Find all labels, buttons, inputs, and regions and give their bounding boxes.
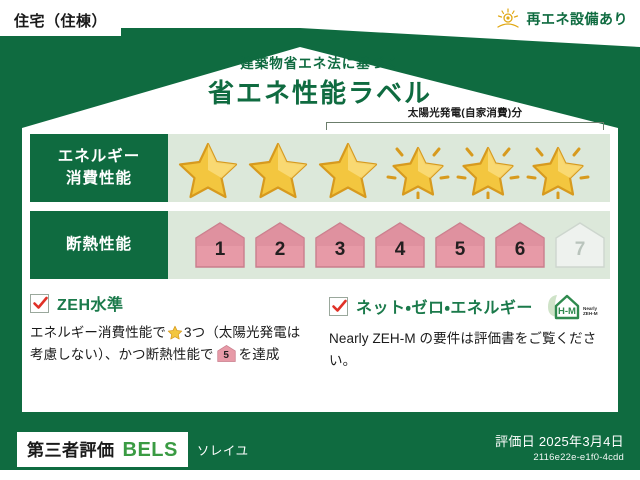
energy-performance-label: 住宅（住棟） 再エネ設備あり 建築物省エネ法に基づく 省エネ性能ラベル (0, 0, 640, 480)
insulation-performance-rating: 1 2 3 4 (168, 211, 610, 279)
check-icon (331, 298, 348, 315)
net-zero-energy-description: Nearly ZEH-M の要件は評価書をご覧ください。 (329, 328, 610, 372)
label-subtitle: 建築物省エネ法に基づく (0, 56, 640, 72)
evaluation-id: 2116e22e-e1f0-4cdd (495, 452, 624, 464)
svg-text:H-M: H-M (558, 306, 576, 317)
insulation-grade-value-3: 3 (335, 240, 346, 271)
label-card: エネルギー 消費性能 太陽光発電(自家消費)分 (30, 134, 610, 372)
insulation-grade-value-5: 5 (455, 240, 466, 271)
zeh-level-title: ZEH水準 (57, 291, 124, 315)
evaluation-info: 評価日 2025年3月4日 2116e22e-e1f0-4cdd (495, 434, 624, 464)
energy-performance-label-line1: エネルギー (58, 146, 141, 168)
insulation-grade-badge-7: 7 (552, 219, 608, 271)
zeh-level-description-part1: エネルギー消費性能で (30, 325, 166, 340)
insulation-performance-row: 断熱性能 1 2 3 (30, 211, 610, 279)
label-footer: 第三者評価 BELS ソレイユ 評価日 2025年3月4日 2116e22e-e… (0, 428, 640, 470)
net-zero-energy-title: ネット・ゼロ・エネルギー (356, 294, 533, 318)
insulation-grade-icon-inline: 5 (216, 344, 237, 363)
sun-icon (495, 8, 521, 30)
insulation-grade-value-6: 6 (515, 240, 526, 271)
bels-certification-box: 第三者評価 BELS (17, 432, 188, 467)
renewable-energy-label: 再エネ設備あり (527, 9, 629, 29)
bels-third-party-label: 第三者評価 (27, 436, 115, 461)
insulation-grade-icon-inline-value: 5 (216, 344, 237, 363)
bels-logo-text: BELS (123, 439, 178, 462)
zeh-sections: ZEH水準 エネルギー消費性能で 3つ（太陽光発電は考慮しない）、かつ断熱性能で… (30, 291, 610, 372)
insulation-grade-badge-1: 1 (192, 219, 248, 271)
star-icon-2 (244, 137, 312, 199)
insulation-grade-badge-6: 6 (492, 219, 548, 271)
star-icon-solar-5 (454, 137, 522, 199)
energy-performance-label-line2: 消費性能 (66, 168, 132, 190)
zeh-m-logo-icon: H-M Nearly ZEH-M (545, 291, 599, 321)
category-tag: 住宅（住棟） (0, 6, 121, 36)
energy-performance-row: エネルギー 消費性能 太陽光発電(自家消費)分 (30, 134, 610, 202)
energy-performance-rating: 太陽光発電(自家消費)分 (168, 134, 610, 202)
zeh-level-description: エネルギー消費性能で 3つ（太陽光発電は考慮しない）、かつ断熱性能で 5 を達成 (30, 322, 311, 366)
insulation-grade-value-4: 4 (395, 240, 406, 271)
insulation-grade-badge-5: 5 (432, 219, 488, 271)
insulation-grade-group: 1 2 3 4 (168, 219, 608, 271)
star-icon-solar-6 (524, 137, 592, 199)
star-icon-solar-4 (384, 137, 452, 199)
insulation-grade-value-7: 7 (575, 240, 586, 271)
zeh-level-header: ZEH水準 (30, 291, 311, 315)
star-icon-inline (167, 324, 183, 340)
insulation-grade-value-1: 1 (215, 240, 226, 271)
insulation-performance-label: 断熱性能 (66, 234, 132, 256)
star-icon-1 (174, 137, 242, 199)
insulation-grade-badge-2: 2 (252, 219, 308, 271)
zeh-level-checkbox[interactable] (30, 294, 49, 313)
net-zero-energy-header: ネット・ゼロ・エネルギー H-M Nearly ZEH-M (329, 291, 610, 321)
svg-text:ZEH-M: ZEH-M (583, 311, 598, 316)
insulation-performance-row-label: 断熱性能 (30, 211, 168, 279)
net-zero-energy-section: ネット・ゼロ・エネルギー H-M Nearly ZEH-M Nearly ZEH… (329, 291, 610, 372)
zeh-level-section: ZEH水準 エネルギー消費性能で 3つ（太陽光発電は考慮しない）、かつ断熱性能で… (30, 291, 311, 372)
label-main-title: 省エネ性能ラベル (0, 79, 640, 109)
insulation-grade-badge-3: 3 (312, 219, 368, 271)
star-rating-group (168, 137, 592, 199)
builder-name: ソレイユ (197, 440, 249, 459)
energy-performance-row-label: エネルギー 消費性能 (30, 134, 168, 202)
renewable-energy-badge: 再エネ設備あり (485, 4, 640, 35)
check-icon (32, 295, 49, 312)
evaluation-date: 評価日 2025年3月4日 (495, 434, 624, 450)
zeh-level-description-part3: を達成 (239, 347, 280, 362)
net-zero-energy-checkbox[interactable] (329, 297, 348, 316)
star-icon-3 (314, 137, 382, 199)
insulation-grade-value-2: 2 (275, 240, 286, 271)
label-title-block: 建築物省エネ法に基づく 省エネ性能ラベル (0, 56, 640, 109)
insulation-grade-badge-4: 4 (372, 219, 428, 271)
